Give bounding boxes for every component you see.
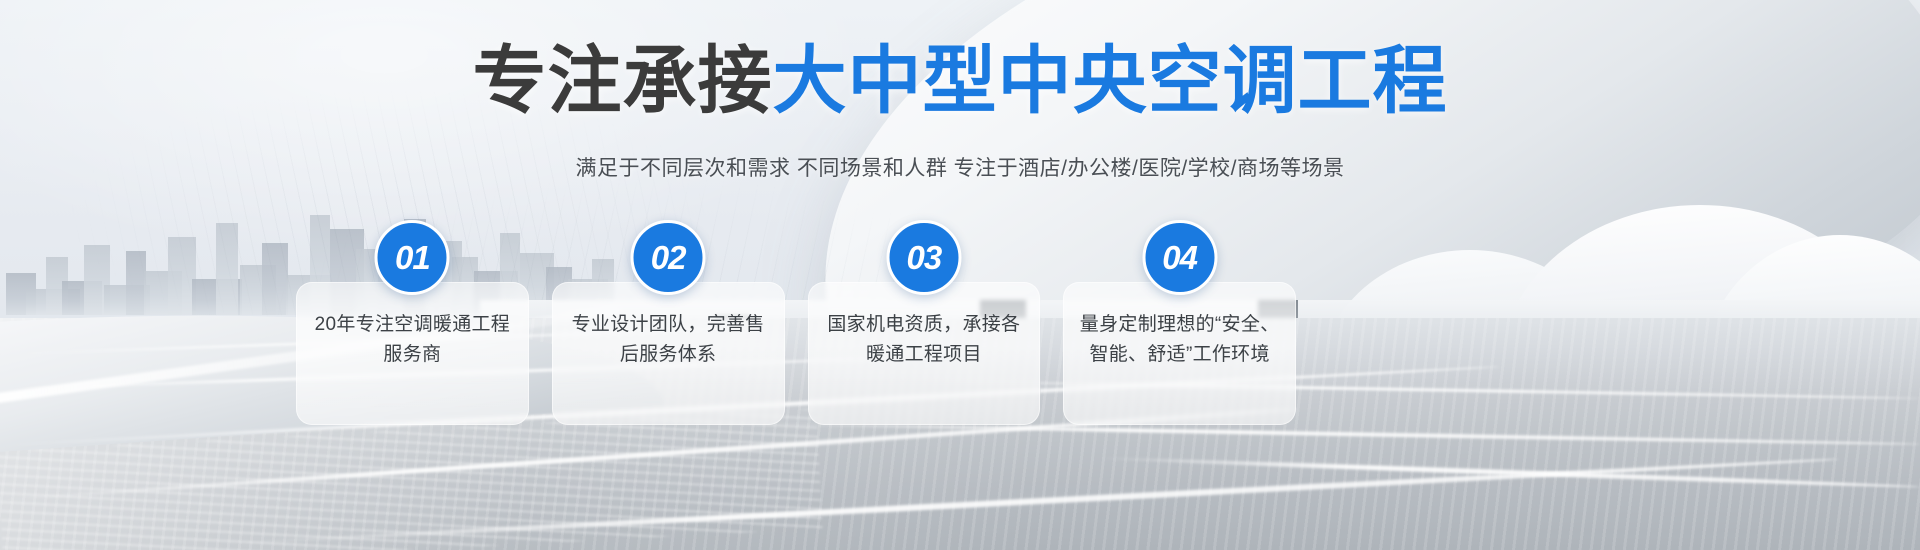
card-number-badge: 01 (375, 220, 450, 295)
card-number-badge: 04 (1142, 220, 1217, 295)
card-number-badge: 03 (886, 220, 961, 295)
card-number-label: 02 (651, 241, 686, 274)
feature-card[interactable]: 03 国家机电资质，承接各暖通工程项目 (808, 282, 1041, 425)
hero-banner: 专注承接大中型中央空调工程 满足于不同层次和需求 不同场景和人群 专注于酒店/办… (0, 0, 1920, 550)
card-number-label: 03 (907, 241, 942, 274)
card-description: 专业设计团队，完善售后服务体系 (566, 310, 771, 370)
card-number-badge: 02 (631, 220, 706, 295)
headline-accent-part: 大中型中央空调工程 (773, 39, 1448, 122)
feature-card[interactable]: 04 量身定制理想的“安全、智能、舒适”工作环境 (1063, 282, 1296, 425)
headline-dark-part: 专注承接 (473, 39, 773, 122)
banner-headline: 专注承接大中型中央空调工程 (0, 44, 1920, 118)
card-description: 国家机电资质，承接各暖通工程项目 (822, 310, 1027, 370)
feature-card[interactable]: 01 20年专注空调暖通工程服务商 (296, 282, 529, 425)
card-number-label: 04 (1162, 241, 1197, 274)
card-description: 20年专注空调暖通工程服务商 (310, 310, 515, 370)
feature-card-list: 01 20年专注空调暖通工程服务商 02 专业设计团队，完善售后服务体系 03 … (296, 282, 1296, 425)
card-number-label: 01 (395, 241, 430, 274)
card-description: 量身定制理想的“安全、智能、舒适”工作环境 (1077, 310, 1282, 370)
banner-subtitle: 满足于不同层次和需求 不同场景和人群 专注于酒店/办公楼/医院/学校/商场等场景 (0, 152, 1920, 182)
feature-card[interactable]: 02 专业设计团队，完善售后服务体系 (552, 282, 785, 425)
